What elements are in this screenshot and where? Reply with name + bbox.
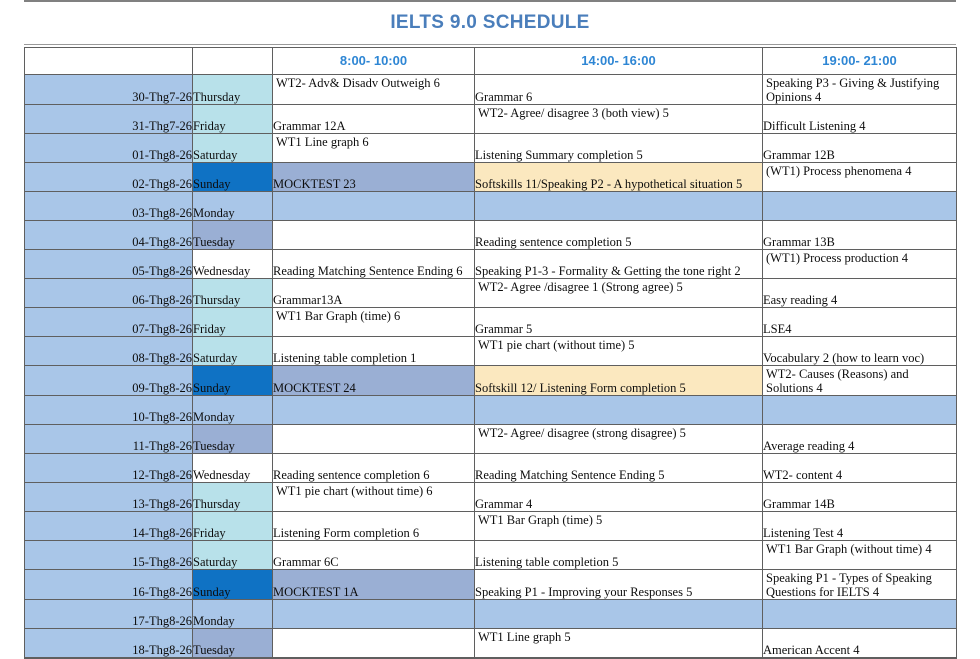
row-day-cell: Friday — [193, 512, 273, 541]
session-cell-slot1[interactable]: Grammar13A — [273, 279, 475, 308]
session-cell-slot3[interactable]: Difficult Listening 4 — [763, 105, 957, 134]
session-cell-slot3[interactable]: WT1 Bar Graph (without time) 4 — [763, 541, 957, 570]
table-row: 01-Thg8-26SaturdayWT1 Line graph 6Listen… — [25, 134, 957, 163]
session-cell-slot3[interactable]: Easy reading 4 — [763, 279, 957, 308]
session-cell-slot1[interactable]: WT1 Line graph 6 — [273, 134, 475, 163]
session-cell-slot1[interactable] — [273, 221, 475, 250]
table-row: 18-Thg8-26TuesdayWT1 Line graph 5America… — [25, 629, 957, 658]
table-row: 02-Thg8-26SundayMOCKTEST 23Softskills 11… — [25, 163, 957, 192]
session-cell-slot2[interactable]: Softskill 12/ Listening Form completion … — [475, 366, 763, 396]
session-cell-slot1[interactable]: MOCKTEST 1A — [273, 570, 475, 600]
row-day-cell: Friday — [193, 308, 273, 337]
session-cell-slot2[interactable]: WT2- Agree/ disagree 3 (both view) 5 — [475, 105, 763, 134]
session-cell-slot3[interactable]: Listening Test 4 — [763, 512, 957, 541]
table-row: 31-Thg7-26FridayGrammar 12AWT2- Agree/ d… — [25, 105, 957, 134]
session-cell-slot2[interactable]: Grammar 5 — [475, 308, 763, 337]
session-cell-slot2[interactable] — [475, 600, 763, 629]
session-cell-slot2[interactable]: WT1 Line graph 5 — [475, 629, 763, 658]
page-title: IELTS 9.0 SCHEDULE — [390, 12, 589, 34]
row-date-cell: 01-Thg8-26 — [25, 134, 193, 163]
session-cell-slot2[interactable]: WT2- Agree/ disagree (strong disagree) 5 — [475, 425, 763, 454]
column-header-slot-morning: 8:00- 10:00 — [273, 48, 475, 75]
session-cell-slot3[interactable]: Grammar 14B — [763, 483, 957, 512]
table-row: 10-Thg8-26Monday — [25, 396, 957, 425]
row-date-cell: 17-Thg8-26 — [25, 600, 193, 629]
row-date-cell: 04-Thg8-26 — [25, 221, 193, 250]
table-body: 30-Thg7-26ThursdayWT2- Adv& Disadv Outwe… — [25, 75, 957, 658]
row-date-cell: 12-Thg8-26 — [25, 454, 193, 483]
row-date-cell: 02-Thg8-26 — [25, 163, 193, 192]
row-day-cell: Monday — [193, 192, 273, 221]
row-date-cell: 18-Thg8-26 — [25, 629, 193, 658]
session-cell-slot3[interactable]: WT2- content 4 — [763, 454, 957, 483]
session-cell-slot2[interactable]: Speaking P1-3 - Formality & Getting the … — [475, 250, 763, 279]
column-header-slot-evening: 19:00- 21:00 — [763, 48, 957, 75]
session-cell-slot2[interactable]: Reading Matching Sentence Ending 5 — [475, 454, 763, 483]
session-cell-slot1[interactable]: MOCKTEST 23 — [273, 163, 475, 192]
row-date-cell: 03-Thg8-26 — [25, 192, 193, 221]
table-row: 07-Thg8-26FridayWT1 Bar Graph (time) 6Gr… — [25, 308, 957, 337]
session-cell-slot1[interactable]: Reading Matching Sentence Ending 6 — [273, 250, 475, 279]
session-cell-slot3[interactable] — [763, 396, 957, 425]
row-date-cell: 30-Thg7-26 — [25, 75, 193, 105]
session-cell-slot1[interactable] — [273, 600, 475, 629]
session-cell-slot3[interactable]: Grammar 13B — [763, 221, 957, 250]
row-date-cell: 10-Thg8-26 — [25, 396, 193, 425]
row-date-cell: 08-Thg8-26 — [25, 337, 193, 366]
session-cell-slot1[interactable] — [273, 425, 475, 454]
table-row: 04-Thg8-26TuesdayReading sentence comple… — [25, 221, 957, 250]
row-day-cell: Wednesday — [193, 250, 273, 279]
table-row: 13-Thg8-26ThursdayWT1 pie chart (without… — [25, 483, 957, 512]
session-cell-slot3[interactable]: Vocabulary 2 (how to learn voc) — [763, 337, 957, 366]
session-cell-slot1[interactable]: WT2- Adv& Disadv Outweigh 6 — [273, 75, 475, 105]
session-cell-slot3[interactable] — [763, 192, 957, 221]
session-cell-slot3[interactable]: Average reading 4 — [763, 425, 957, 454]
row-date-cell: 11-Thg8-26 — [25, 425, 193, 454]
row-day-cell: Tuesday — [193, 629, 273, 658]
session-cell-slot1[interactable] — [273, 629, 475, 658]
table-row: 11-Thg8-26TuesdayWT2- Agree/ disagree (s… — [25, 425, 957, 454]
row-day-cell: Sunday — [193, 163, 273, 192]
row-day-cell: Saturday — [193, 337, 273, 366]
row-day-cell: Wednesday — [193, 454, 273, 483]
table-row: 15-Thg8-26SaturdayGrammar 6CListening ta… — [25, 541, 957, 570]
session-cell-slot2[interactable]: WT2- Agree /disagree 1 (Strong agree) 5 — [475, 279, 763, 308]
row-day-cell: Thursday — [193, 483, 273, 512]
table-row: 03-Thg8-26Monday — [25, 192, 957, 221]
row-day-cell: Friday — [193, 105, 273, 134]
row-date-cell: 31-Thg7-26 — [25, 105, 193, 134]
row-day-cell: Sunday — [193, 366, 273, 396]
session-cell-slot2[interactable]: Listening table completion 5 — [475, 541, 763, 570]
row-date-cell: 13-Thg8-26 — [25, 483, 193, 512]
table-row: 16-Thg8-26SundayMOCKTEST 1ASpeaking P1 -… — [25, 570, 957, 600]
session-cell-slot3[interactable]: (WT1) Process phenomena 4 — [763, 163, 957, 192]
session-cell-slot1[interactable]: Grammar 6C — [273, 541, 475, 570]
schedule-table: 8:00- 10:00 14:00- 16:00 19:00- 21:00 30… — [24, 47, 957, 659]
table-header-row: 8:00- 10:00 14:00- 16:00 19:00- 21:00 — [25, 48, 957, 75]
session-cell-slot2[interactable]: Speaking P1 - Improving your Responses 5 — [475, 570, 763, 600]
schedule-sheet: IELTS 9.0 SCHEDULE 8:00- 10:00 14:00- 16… — [0, 0, 980, 638]
row-date-cell: 14-Thg8-26 — [25, 512, 193, 541]
row-day-cell: Thursday — [193, 75, 273, 105]
session-cell-slot1[interactable]: MOCKTEST 24 — [273, 366, 475, 396]
session-cell-slot2[interactable]: Reading sentence completion 5 — [475, 221, 763, 250]
table-row: 09-Thg8-26SundayMOCKTEST 24Softskill 12/… — [25, 366, 957, 396]
row-day-cell: Sunday — [193, 570, 273, 600]
row-date-cell: 05-Thg8-26 — [25, 250, 193, 279]
row-date-cell: 15-Thg8-26 — [25, 541, 193, 570]
row-date-cell: 16-Thg8-26 — [25, 570, 193, 600]
session-cell-slot2[interactable]: WT1 pie chart (without time) 5 — [475, 337, 763, 366]
session-cell-slot2[interactable]: Grammar 4 — [475, 483, 763, 512]
column-header-date — [25, 48, 193, 75]
session-cell-slot3[interactable] — [763, 600, 957, 629]
session-cell-slot3[interactable]: LSE4 — [763, 308, 957, 337]
session-cell-slot3[interactable]: Speaking P1 - Types of Speaking Question… — [763, 570, 957, 600]
column-header-slot-afternoon: 14:00- 16:00 — [475, 48, 763, 75]
session-cell-slot1[interactable]: Listening Form completion 6 — [273, 512, 475, 541]
session-cell-slot3[interactable]: WT2- Causes (Reasons) and Solutions 4 — [763, 366, 957, 396]
column-header-day — [193, 48, 273, 75]
session-cell-slot2[interactable]: Listening Summary completion 5 — [475, 134, 763, 163]
session-cell-slot2[interactable]: WT1 Bar Graph (time) 5 — [475, 512, 763, 541]
session-cell-slot1[interactable] — [273, 192, 475, 221]
table-row: 17-Thg8-26Monday — [25, 600, 957, 629]
session-cell-slot3[interactable]: Grammar 12B — [763, 134, 957, 163]
session-cell-slot1[interactable] — [273, 396, 475, 425]
row-date-cell: 07-Thg8-26 — [25, 308, 193, 337]
row-day-cell: Saturday — [193, 134, 273, 163]
session-cell-slot1[interactable]: Listening table completion 1 — [273, 337, 475, 366]
table-row: 08-Thg8-26SaturdayListening table comple… — [25, 337, 957, 366]
table-row: 30-Thg7-26ThursdayWT2- Adv& Disadv Outwe… — [25, 75, 957, 105]
session-cell-slot3[interactable]: American Accent 4 — [763, 629, 957, 658]
session-cell-slot1[interactable]: WT1 Bar Graph (time) 6 — [273, 308, 475, 337]
session-cell-slot2[interactable]: Grammar 6 — [475, 75, 763, 105]
session-cell-slot1[interactable]: Grammar 12A — [273, 105, 475, 134]
session-cell-slot2[interactable]: Softskills 11/Speaking P2 - A hypothetic… — [475, 163, 763, 192]
session-cell-slot1[interactable]: WT1 pie chart (without time) 6 — [273, 483, 475, 512]
session-cell-slot2[interactable] — [475, 396, 763, 425]
table-row: 12-Thg8-26WednesdayReading sentence comp… — [25, 454, 957, 483]
table-row: 05-Thg8-26WednesdayReading Matching Sent… — [25, 250, 957, 279]
table-row: 06-Thg8-26ThursdayGrammar13AWT2- Agree /… — [25, 279, 957, 308]
row-day-cell: Saturday — [193, 541, 273, 570]
row-day-cell: Tuesday — [193, 221, 273, 250]
row-day-cell: Monday — [193, 396, 273, 425]
table-row: 14-Thg8-26FridayListening Form completio… — [25, 512, 957, 541]
row-day-cell: Thursday — [193, 279, 273, 308]
row-date-cell: 06-Thg8-26 — [25, 279, 193, 308]
session-cell-slot3[interactable]: (WT1) Process production 4 — [763, 250, 957, 279]
row-date-cell: 09-Thg8-26 — [25, 366, 193, 396]
session-cell-slot1[interactable]: Reading sentence completion 6 — [273, 454, 475, 483]
session-cell-slot2[interactable] — [475, 192, 763, 221]
title-band: IELTS 9.0 SCHEDULE — [24, 0, 956, 45]
row-day-cell: Tuesday — [193, 425, 273, 454]
session-cell-slot3[interactable]: Speaking P3 - Giving & Justifying Opinio… — [763, 75, 957, 105]
row-day-cell: Monday — [193, 600, 273, 629]
